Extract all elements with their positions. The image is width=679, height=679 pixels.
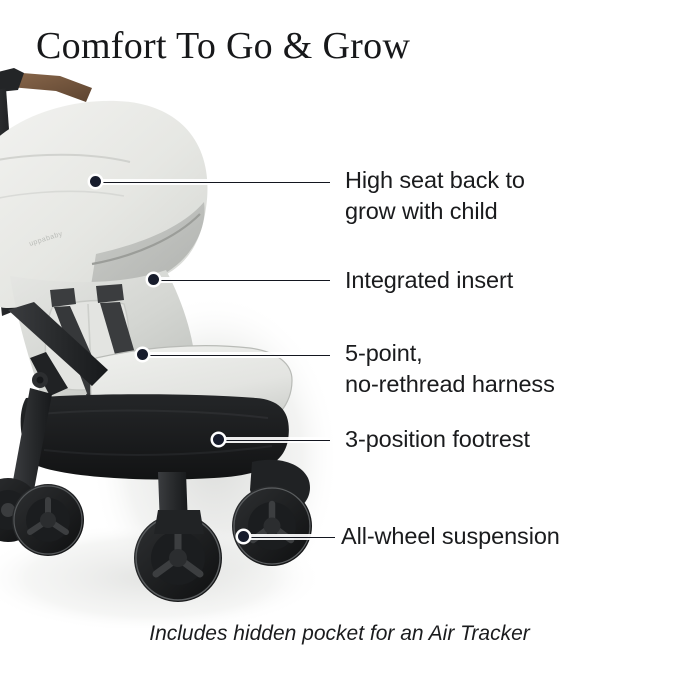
product-photo: uppababy uppababy bbox=[0, 58, 400, 628]
callout-dot-all-wheel-suspension[interactable] bbox=[238, 531, 249, 542]
callout-line-high-seat-back bbox=[95, 178, 330, 186]
callout-label-high-seat-back: High seat back to grow with child bbox=[345, 165, 525, 227]
callout-line-three-position-footrest bbox=[218, 436, 330, 444]
callout-label-integrated-insert: Integrated insert bbox=[345, 265, 513, 296]
callout-label-all-wheel-suspension: All-wheel suspension bbox=[341, 521, 560, 552]
callout-line-five-point-harness bbox=[142, 351, 330, 359]
callout-dot-five-point-harness[interactable] bbox=[137, 349, 148, 360]
callout-dot-three-position-footrest[interactable] bbox=[213, 434, 224, 445]
footer-caption: Includes hidden pocket for an Air Tracke… bbox=[0, 622, 679, 646]
callout-dot-high-seat-back[interactable] bbox=[90, 176, 101, 187]
callout-line-all-wheel-suspension bbox=[243, 533, 335, 541]
callout-line-integrated-insert bbox=[153, 276, 330, 284]
callout-label-three-position-footrest: 3-position footrest bbox=[345, 424, 530, 455]
callout-dot-integrated-insert[interactable] bbox=[148, 274, 159, 285]
feature-callout-image: Comfort To Go & Grow bbox=[0, 0, 679, 679]
callout-label-five-point-harness: 5-point, no-rethread harness bbox=[345, 338, 555, 400]
